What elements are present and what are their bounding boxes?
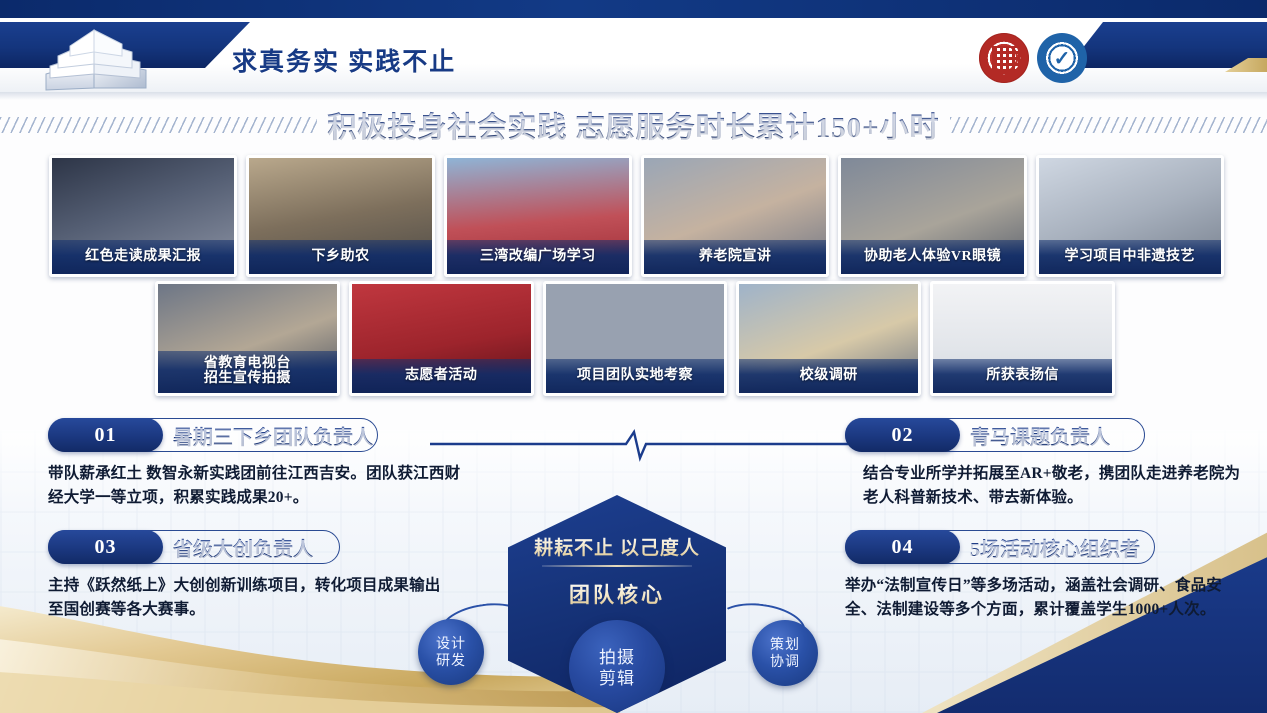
photo-caption: 下乡助农 — [249, 240, 431, 274]
photo-gallery-row-2: 省教育电视台招生宣传拍摄 志愿者活动 项目团队实地考察 校级调研 所获表扬信 — [155, 281, 1115, 396]
section-description: 带队薪承红土 数智永新实践团前往江西吉安。团队获江西财经大学一等立项，积累实践成… — [48, 462, 468, 510]
team-core-subtitle: 团队核心 — [508, 579, 726, 609]
hatch-decoration-left — [0, 117, 317, 133]
slide-page: 求真务实 实践不止 积极投身社会实践 志愿服务时长累计150+小时 红色走读成果… — [0, 0, 1267, 713]
achievement-section-03: 03 省级大创负责人 主持《跃然纸上》大创创新训练项目，转化项目成果输出至国创赛… — [48, 530, 448, 622]
team-motto: 耕耘不止 以己度人 — [508, 533, 726, 560]
achievement-section-02: 02 青马课题负责人 结合专业所学并拓展至AR+敬老，携团队走进养老院为老人科普… — [845, 418, 1245, 510]
role-label-line2: 剪辑 — [599, 668, 635, 689]
photo-caption: 养老院宣讲 — [644, 240, 826, 274]
role-label-line1: 拍摄 — [599, 647, 635, 668]
section-number-badge: 04 — [845, 530, 960, 564]
photo-card[interactable]: 志愿者活动 — [349, 281, 534, 396]
header-shadow — [0, 92, 1267, 100]
photo-card[interactable]: 学习项目中非遗技艺 — [1036, 155, 1224, 277]
photo-caption: 所获表扬信 — [933, 359, 1112, 393]
photo-caption: 项目团队实地考察 — [546, 359, 725, 393]
section-title: 省级大创负责人 — [173, 533, 313, 562]
section-number-badge: 02 — [845, 418, 960, 452]
main-title-row: 积极投身社会实践 志愿服务时长累计150+小时 — [0, 103, 1267, 147]
hexagon-divider — [542, 565, 692, 567]
photo-card[interactable]: 红色走读成果汇报 — [49, 155, 237, 277]
header-title: 求真务实 实践不止 — [232, 42, 456, 78]
section-description: 主持《跃然纸上》大创创新训练项目，转化项目成果输出至国创赛等各大赛事。 — [48, 574, 448, 622]
photo-caption: 红色走读成果汇报 — [52, 240, 234, 274]
photo-card[interactable]: 校级调研 — [736, 281, 921, 396]
section-description: 结合专业所学并拓展至AR+敬老，携团队走进养老院为老人科普新技术、带去新体验。 — [863, 462, 1245, 510]
section-header: 01 暑期三下乡团队负责人 — [48, 418, 468, 452]
page-title: 积极投身社会实践 志愿服务时长累计150+小时 — [327, 104, 939, 146]
page-header: 求真务实 实践不止 — [0, 0, 1267, 100]
organization-blue-seal-icon — [1037, 33, 1087, 83]
section-title: 暑期三下乡团队负责人 — [173, 421, 373, 450]
photo-card[interactable]: 省教育电视台招生宣传拍摄 — [155, 281, 340, 396]
photo-card[interactable]: 所获表扬信 — [930, 281, 1115, 396]
photo-card[interactable]: 下乡助农 — [246, 155, 434, 277]
photo-card[interactable]: 协助老人体验VR眼镜 — [838, 155, 1026, 277]
university-red-seal-icon — [979, 33, 1029, 83]
role-label-line1: 策划 — [770, 636, 800, 654]
photo-caption: 省教育电视台招生宣传拍摄 — [158, 351, 337, 393]
photo-gallery-row-1: 红色走读成果汇报 下乡助农 三湾改编广场学习 养老院宣讲 协助老人体验VR眼镜 … — [49, 155, 1224, 277]
section-title: 青马课题负责人 — [970, 421, 1110, 450]
role-label-line1: 设计 — [436, 635, 466, 653]
role-circle-planning[interactable]: 策划 协调 — [752, 620, 818, 686]
photo-card[interactable]: 三湾改编广场学习 — [444, 155, 632, 277]
section-header: 04 5场活动核心组织者 — [845, 530, 1250, 564]
achievement-section-04: 04 5场活动核心组织者 举办“法制宣传日”等多场活动，涵盖社会调研、食品安全、… — [845, 530, 1250, 622]
pulse-divider-icon — [430, 424, 850, 464]
role-label-line2: 研发 — [436, 652, 466, 670]
section-header: 03 省级大创负责人 — [48, 530, 448, 564]
photo-caption: 学习项目中非遗技艺 — [1039, 240, 1221, 274]
section-header: 02 青马课题负责人 — [845, 418, 1245, 452]
photo-caption: 协助老人体验VR眼镜 — [841, 240, 1023, 274]
header-top-navy-band — [0, 0, 1267, 18]
role-label-line2: 协调 — [770, 653, 800, 671]
section-description: 举办“法制宣传日”等多场活动，涵盖社会调研、食品安全、法制建设等多个方面，累计覆… — [845, 574, 1250, 622]
section-number-badge: 01 — [48, 418, 163, 452]
photo-caption: 志愿者活动 — [352, 359, 531, 393]
achievement-section-01: 01 暑期三下乡团队负责人 带队薪承红土 数智永新实践团前往江西吉安。团队获江西… — [48, 418, 468, 510]
hatch-decoration-right — [950, 117, 1267, 133]
photo-card[interactable]: 项目团队实地考察 — [543, 281, 728, 396]
role-circle-design[interactable]: 设计 研发 — [418, 619, 484, 685]
section-title: 5场活动核心组织者 — [970, 533, 1140, 562]
photo-caption: 三湾改编广场学习 — [447, 240, 629, 274]
open-book-icon — [36, 22, 156, 94]
photo-card[interactable]: 养老院宣讲 — [641, 155, 829, 277]
section-number-badge: 03 — [48, 530, 163, 564]
photo-caption: 校级调研 — [739, 359, 918, 393]
